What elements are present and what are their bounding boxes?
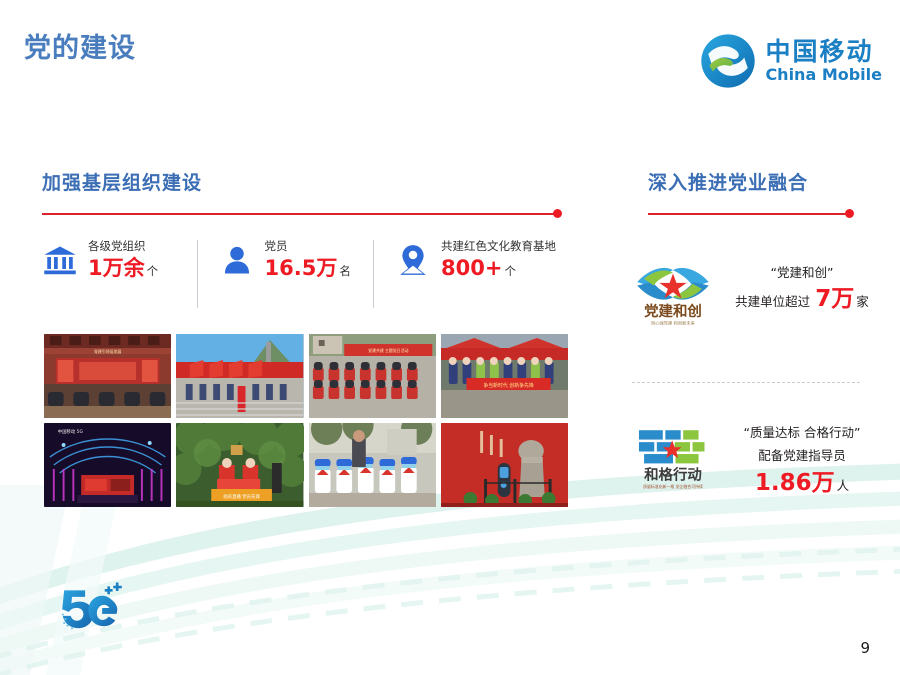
dangjian-hechuang-logo-icon: 党建和创 同心强党建 和创新未来 bbox=[630, 248, 716, 328]
initiative-value: 7万 bbox=[815, 286, 854, 312]
rule-dot bbox=[845, 209, 854, 218]
photo-thumbnail[interactable] bbox=[441, 423, 568, 507]
left-section-title: 加强基层组织建设 bbox=[42, 168, 560, 195]
page-title: 党的建设 bbox=[24, 26, 136, 65]
svg-text:党建共建 主题党日活动: 党建共建 主题党日活动 bbox=[368, 348, 408, 353]
left-section-header: 加强基层组织建设 bbox=[42, 168, 560, 219]
stat-item-education-bases: 共建红色文化教育基地 800+ 个 bbox=[373, 240, 562, 280]
rule-line bbox=[648, 213, 852, 215]
initiative-value: 1.86万 bbox=[755, 470, 835, 496]
photo-thumbnail[interactable] bbox=[176, 334, 303, 418]
initiative-line-1: “质量达标 合格行动” bbox=[744, 425, 861, 440]
svg-text:同心强党建 和创新未来: 同心强党建 和创新未来 bbox=[651, 320, 696, 327]
stat-item-party-members: 党员 16.5万 名 bbox=[197, 240, 374, 280]
initiative-unit: 家 bbox=[856, 294, 869, 309]
stat-number: 16.5万 bbox=[265, 256, 338, 280]
initiative-text: “质量达标 合格行动” 配备党建指导员 1.86万人 bbox=[726, 420, 878, 500]
svg-text:争当新时代 创新争先锋: 争当新时代 创新争先锋 bbox=[483, 382, 533, 389]
stat-number: 1万余 bbox=[88, 256, 145, 280]
photo-thumbnail[interactable] bbox=[309, 423, 436, 507]
person-icon bbox=[219, 242, 255, 278]
right-section-title: 深入推进党业融合 bbox=[648, 168, 852, 195]
initiative-line-1: “党建和创” bbox=[771, 265, 834, 280]
stat-label: 党员 bbox=[265, 240, 351, 253]
initiative-item-hege-xingdong: 和格行动 质量标准化新一格 党企融合可持续 “质量达标 合格行动” 配备党建指导… bbox=[630, 420, 878, 500]
stat-unit: 名 bbox=[339, 265, 351, 278]
svg-text:和格行动: 和格行动 bbox=[644, 466, 702, 484]
stat-value: 1万余 个 bbox=[88, 256, 158, 280]
stat-value: 800+ 个 bbox=[441, 256, 556, 280]
photo-thumbnail[interactable]: 争当新时代 创新争先锋 bbox=[441, 334, 568, 418]
photo-gallery: 党建引领促发展 bbox=[44, 334, 568, 507]
svg-text:党建引领促发展: 党建引领促发展 bbox=[94, 349, 121, 354]
bank-institution-icon bbox=[42, 242, 78, 278]
initiative-line-2: 共建单位超过 bbox=[735, 294, 810, 309]
slide-root: 党的建设 中国移动 China Mobile bbox=[0, 0, 900, 675]
stat-item-party-organizations: 各级党组织 1万余 个 bbox=[42, 240, 197, 280]
page-number: 9 bbox=[860, 639, 870, 657]
photo-thumbnail[interactable]: 党建共建 主题党日活动 bbox=[309, 334, 436, 418]
stats-row: 各级党组织 1万余 个 党员 16.5万 名 bbox=[42, 240, 562, 314]
right-panel-divider bbox=[632, 382, 860, 384]
stat-value: 16.5万 名 bbox=[265, 256, 351, 280]
initiative-value-row: 1.86万人 bbox=[755, 475, 849, 494]
svg-text:助农直播 党员先锋: 助农直播 党员先锋 bbox=[224, 493, 261, 500]
hege-xingdong-logo-icon: 和格行动 质量标准化新一格 党企融合可持续 bbox=[630, 420, 716, 500]
china-mobile-logo: 中国移动 China Mobile bbox=[699, 32, 882, 90]
svg-text:中国移动 5G: 中国移动 5G bbox=[58, 428, 84, 435]
svg-text:党建和创: 党建和创 bbox=[644, 302, 702, 320]
right-section-rule bbox=[648, 209, 852, 219]
brand-name-en: China Mobile bbox=[765, 67, 882, 83]
5g-plus-plus-icon bbox=[55, 579, 127, 637]
china-mobile-wave-icon bbox=[699, 32, 757, 90]
photo-thumbnail[interactable]: 中国移动 5G bbox=[44, 423, 171, 507]
initiative-text: “党建和创” 共建单位超过 7万家 bbox=[726, 260, 878, 317]
initiative-line-2: 配备党建指导员 bbox=[758, 448, 846, 463]
brand-name-cn: 中国移动 bbox=[765, 39, 882, 64]
initiative-unit: 人 bbox=[837, 478, 850, 493]
stat-unit: 个 bbox=[504, 265, 516, 278]
rule-line bbox=[42, 213, 560, 215]
initiative-item-dangjian-hechuang: 党建和创 同心强党建 和创新未来 “党建和创” 共建单位超过 7万家 bbox=[630, 248, 878, 328]
rule-dot bbox=[553, 209, 562, 218]
svg-text:质量标准化新一格 党企融合可持续: 质量标准化新一格 党企融合可持续 bbox=[643, 484, 703, 489]
left-section-rule bbox=[42, 209, 560, 219]
stat-number: 800+ bbox=[441, 256, 502, 280]
right-section-header: 深入推进党业融合 bbox=[648, 168, 852, 219]
photo-thumbnail[interactable]: 党建引领促发展 bbox=[44, 334, 171, 418]
stat-label: 各级党组织 bbox=[88, 240, 158, 253]
initiative-value-row: 7万家 bbox=[815, 291, 869, 310]
stat-label: 共建红色文化教育基地 bbox=[441, 240, 556, 253]
stat-unit: 个 bbox=[147, 265, 159, 278]
map-pin-icon bbox=[395, 242, 431, 278]
photo-thumbnail[interactable]: 助农直播 党员先锋 bbox=[176, 423, 303, 507]
